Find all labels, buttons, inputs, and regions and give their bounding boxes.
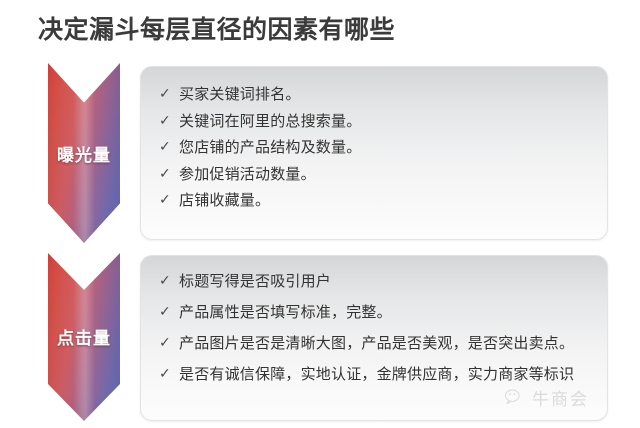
list-item-label: 参加促销活动数量。 — [179, 161, 597, 188]
check-icon: ✓ — [159, 297, 179, 328]
check-icon: ✓ — [159, 81, 179, 108]
list-item: ✓产品图片是否是清晰大图，产品是否美观，是否突出卖点。 — [159, 328, 597, 359]
slide-root: 决定漏斗每层直径的因素有哪些 曝光量 ✓买家关键词排名。✓关键词在阿里的总搜索量… — [0, 0, 640, 428]
list-item-label: 标题写得是否吸引用户 — [179, 266, 597, 297]
factors-list-clicks: ✓标题写得是否吸引用户✓产品属性是否填写标准，完整。✓产品图片是否是清晰大图，产… — [159, 266, 597, 390]
funnel-arrow-clicks: 点击量 — [48, 253, 120, 421]
check-icon: ✓ — [159, 134, 179, 161]
list-item: ✓标题写得是否吸引用户 — [159, 266, 597, 297]
list-item-label: 买家关键词排名。 — [179, 81, 597, 108]
list-item-label: 关键词在阿里的总搜索量。 — [179, 108, 597, 135]
page-title: 决定漏斗每层直径的因素有哪些 — [38, 13, 395, 47]
list-item: ✓买家关键词排名。 — [159, 81, 597, 108]
factors-panel-exposure: ✓买家关键词排名。✓关键词在阿里的总搜索量。✓您店铺的产品结构及数量。✓参加促销… — [140, 66, 608, 240]
list-item-label: 您店铺的产品结构及数量。 — [179, 134, 597, 161]
list-item: ✓产品属性是否填写标准，完整。 — [159, 297, 597, 328]
funnel-arrow-label-exposure: 曝光量 — [48, 141, 120, 166]
check-icon: ✓ — [159, 266, 179, 297]
wechat-icon — [504, 388, 526, 407]
list-item-label: 产品属性是否填写标准，完整。 — [179, 297, 597, 328]
factors-list-exposure: ✓买家关键词排名。✓关键词在阿里的总搜索量。✓您店铺的产品结构及数量。✓参加促销… — [159, 81, 597, 214]
list-item: ✓参加促销活动数量。 — [159, 161, 597, 188]
check-icon: ✓ — [159, 108, 179, 135]
list-item: ✓您店铺的产品结构及数量。 — [159, 134, 597, 161]
list-item-label: 是否有诚信保障，实地认证，金牌供应商，实力商家等标识 — [179, 359, 597, 390]
list-item: ✓是否有诚信保障，实地认证，金牌供应商，实力商家等标识 — [159, 359, 597, 390]
factors-panel-clicks: ✓标题写得是否吸引用户✓产品属性是否填写标准，完整。✓产品图片是否是清晰大图，产… — [140, 255, 608, 421]
list-item: ✓关键词在阿里的总搜索量。 — [159, 108, 597, 135]
funnel-arrow-exposure: 曝光量 — [48, 63, 120, 243]
check-icon: ✓ — [159, 328, 179, 359]
check-icon: ✓ — [159, 359, 179, 390]
list-item-label: 店铺收藏量。 — [179, 187, 597, 214]
funnel-arrow-label-clicks: 点击量 — [48, 324, 120, 349]
list-item-label: 产品图片是否是清晰大图，产品是否美观，是否突出卖点。 — [179, 328, 597, 359]
check-icon: ✓ — [159, 187, 179, 214]
list-item: ✓店铺收藏量。 — [159, 187, 597, 214]
check-icon: ✓ — [159, 161, 179, 188]
